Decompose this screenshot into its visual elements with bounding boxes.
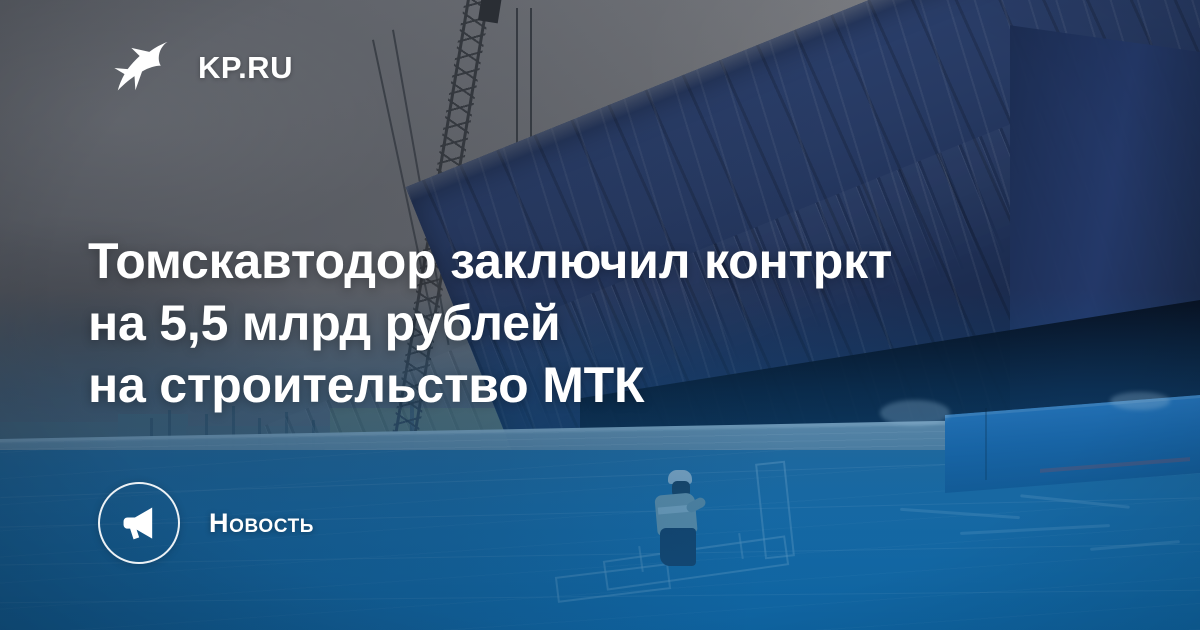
brand-lockup[interactable]: KP.RU xyxy=(110,36,293,98)
badge-label: Новость xyxy=(209,508,314,539)
badge-icon-circle xyxy=(98,482,180,564)
headline: Томскавтодор заключил контркт на 5,5 млр… xyxy=(88,230,1098,416)
news-share-card: KP.RU Томскавтодор заключил контркт на 5… xyxy=(0,0,1200,630)
headline-line-1: Томскавтодор заключил контркт xyxy=(88,230,1098,292)
category-badge[interactable]: Новость xyxy=(98,482,314,564)
swallow-bird-icon xyxy=(110,36,172,98)
brand-name: KP.RU xyxy=(198,52,293,83)
headline-line-3: на строительство МТК xyxy=(88,354,1098,416)
megaphone-icon xyxy=(119,503,159,543)
headline-line-2: на 5,5 млрд рублей xyxy=(88,292,1098,354)
